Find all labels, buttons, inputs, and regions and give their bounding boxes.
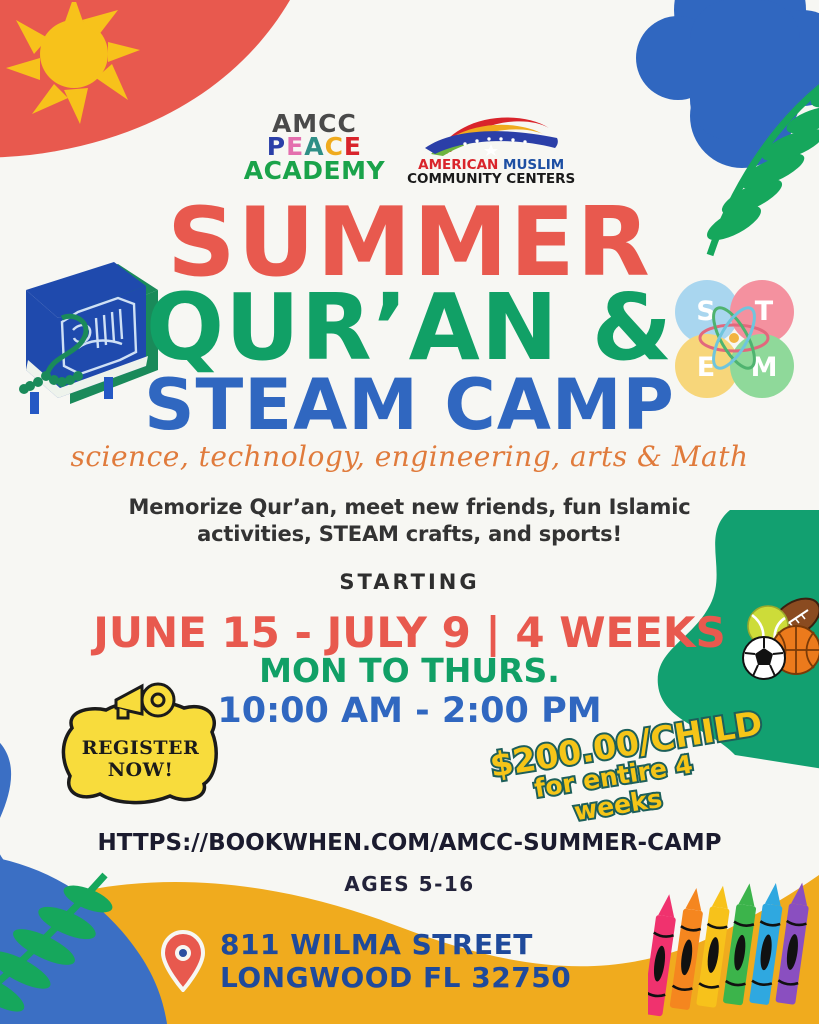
address-text: 811 WILMA STREET LONGWOOD FL 32750	[220, 928, 571, 994]
map-pin-icon	[160, 930, 206, 992]
register-now-badge[interactable]: REGISTER NOW!	[58, 700, 223, 805]
price-badge: $200.00/CHILD for entire 4 weeks	[487, 709, 737, 826]
badges: REGISTER NOW! $200.00/CHILD for entire 4…	[0, 0, 819, 1024]
register-badge-line1: REGISTER	[82, 738, 200, 760]
poster-canvas: AMCC PEACE ACADEMY AMERICAN MUSLIM CO	[0, 0, 819, 1024]
register-badge-line2: NOW!	[108, 760, 174, 782]
address-block: 811 WILMA STREET LONGWOOD FL 32750	[160, 928, 571, 994]
address-line2: LONGWOOD FL 32750	[220, 961, 571, 994]
address-line1: 811 WILMA STREET	[220, 928, 571, 961]
register-badge-text: REGISTER NOW!	[58, 700, 223, 805]
